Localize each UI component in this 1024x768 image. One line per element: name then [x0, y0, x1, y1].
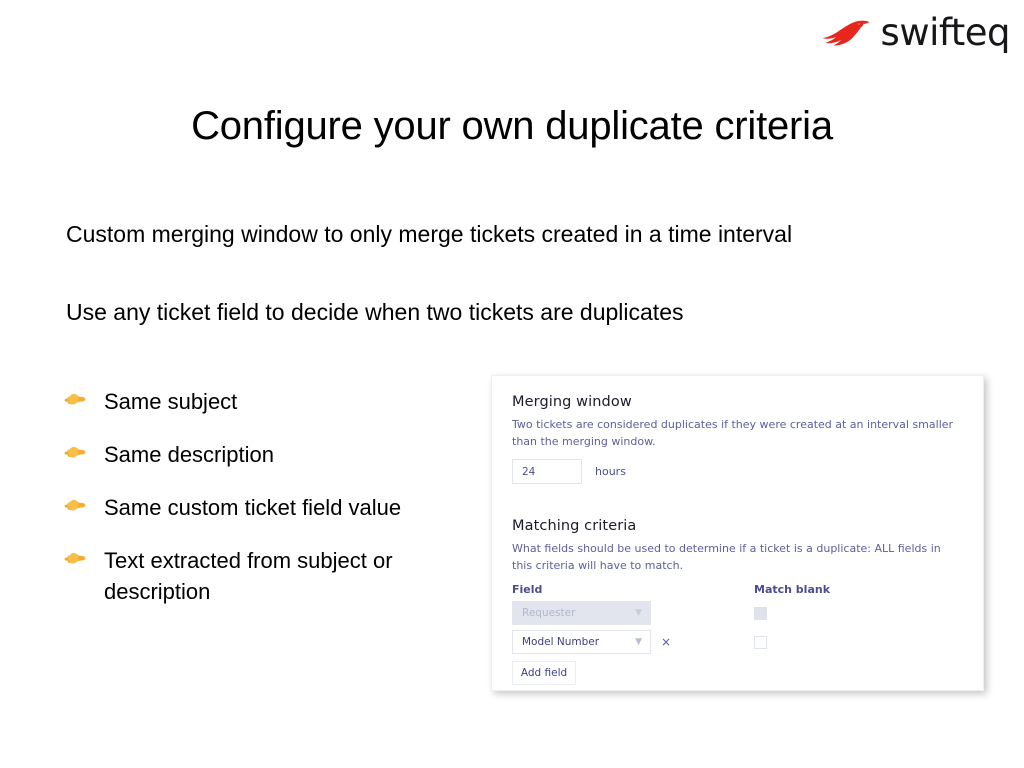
list-item: Same subject	[64, 386, 484, 417]
merging-window-hours-input[interactable]: 24	[512, 459, 582, 484]
merging-window-heading: Merging window	[512, 394, 961, 410]
column-header-match-blank: Match blank	[754, 583, 830, 596]
list-item: Text extracted from subject or descripti…	[64, 545, 484, 607]
criteria-row: Requester ▼	[512, 601, 961, 625]
add-field-button[interactable]: Add field	[512, 661, 576, 685]
pointing-hand-right-icon	[64, 492, 104, 515]
feature-bullet-list: Same subject Same description Same custo	[64, 386, 484, 607]
field-select-model-number-value: Model Number	[522, 636, 599, 648]
merging-window-hours-value: 24	[522, 466, 535, 478]
field-select-requester-value: Requester	[522, 607, 575, 619]
criteria-table-header: Field Match blank	[512, 583, 961, 596]
pointing-hand-right-icon	[64, 545, 104, 568]
field-select-requester: Requester ▼	[512, 601, 651, 625]
field-select-cell: Model Number ▼ ×	[512, 630, 754, 654]
matching-criteria-heading: Matching criteria	[512, 518, 961, 534]
list-item-label: Same description	[104, 439, 274, 470]
match-blank-checkbox-requester	[754, 607, 767, 620]
field-select-cell: Requester ▼	[512, 601, 754, 625]
chevron-down-icon: ▼	[635, 638, 642, 647]
field-select-model-number[interactable]: Model Number ▼	[512, 630, 651, 654]
pointing-hand-right-icon	[64, 439, 104, 462]
comet-swoosh-icon	[819, 18, 871, 48]
remove-field-icon[interactable]: ×	[661, 636, 671, 648]
chevron-down-icon: ▼	[635, 609, 642, 618]
intro-paragraph-2: Use any ticket field to decide when two …	[66, 299, 684, 326]
intro-paragraph-1: Custom merging window to only merge tick…	[66, 221, 792, 248]
matching-criteria-description: What fields should be used to determine …	[512, 541, 961, 574]
column-header-field: Field	[512, 583, 754, 596]
list-item: Same description	[64, 439, 484, 470]
list-item-label: Text extracted from subject or descripti…	[104, 545, 484, 607]
merging-window-description: Two tickets are considered duplicates if…	[512, 417, 961, 450]
pointing-hand-right-icon	[64, 386, 104, 409]
page-title: Configure your own duplicate criteria	[0, 104, 1024, 149]
duplicate-criteria-settings-card: Merging window Two tickets are considere…	[491, 375, 984, 691]
list-item: Same custom ticket field value	[64, 492, 484, 523]
list-item-label: Same custom ticket field value	[104, 492, 401, 523]
match-blank-checkbox-model-number[interactable]	[754, 636, 767, 649]
criteria-row: Model Number ▼ ×	[512, 630, 961, 654]
match-blank-cell	[754, 607, 767, 620]
brand-logo: swifteq	[819, 14, 1010, 51]
match-blank-cell	[754, 636, 767, 649]
hours-unit-label: hours	[595, 465, 626, 478]
brand-wordmark: swifteq	[881, 14, 1010, 51]
merging-window-row: 24 hours	[512, 459, 961, 484]
list-item-label: Same subject	[104, 386, 237, 417]
